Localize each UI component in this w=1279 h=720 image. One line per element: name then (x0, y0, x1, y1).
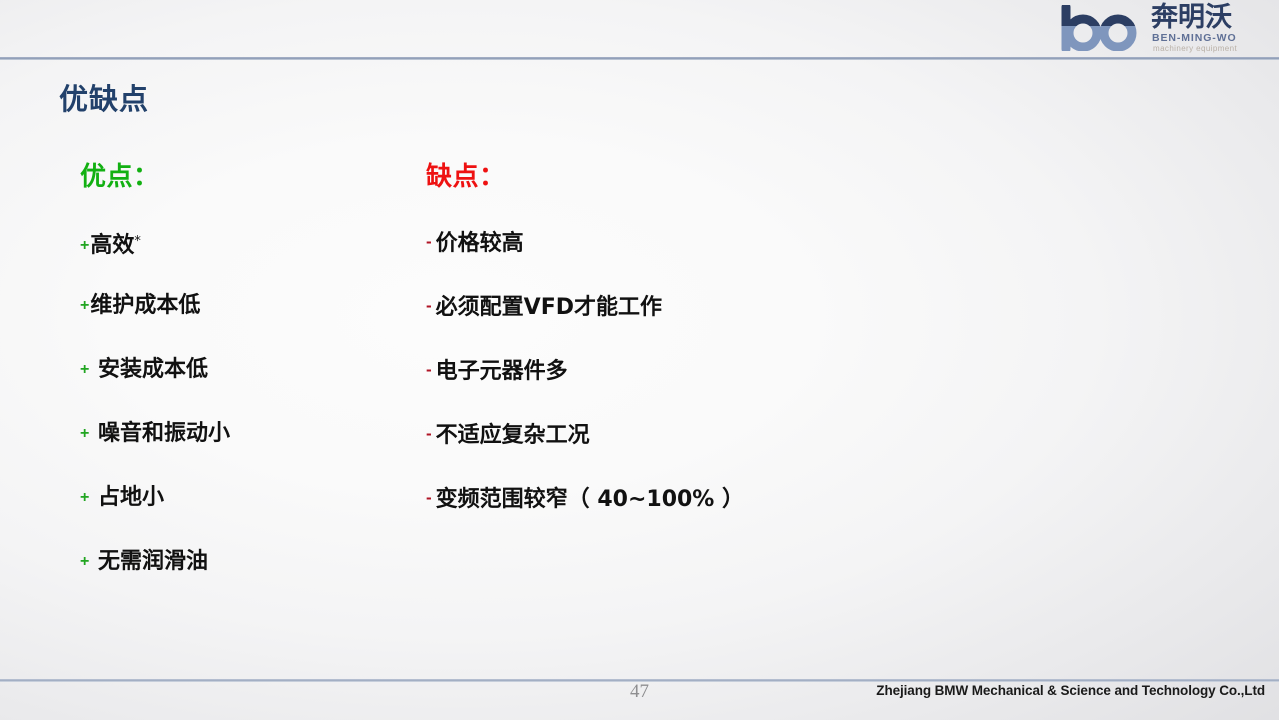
cons-list: -价格较高 -必须配置VFD才能工作 -电子元器件多 -不适应复杂工况 -变频范… (426, 228, 1026, 548)
plus-marker-icon: + (80, 292, 89, 320)
list-item-label: 无需润滑油 (90, 549, 208, 574)
list-item-label: 安装成本低 (90, 357, 208, 382)
list-item: +高效* (80, 228, 410, 292)
logo-tagline: machinery equipment (1153, 44, 1237, 53)
dash-marker-icon: - (426, 228, 432, 256)
list-item: +维护成本低 (80, 292, 410, 356)
pros-list: +高效* +维护成本低 + 安装成本低 + 噪音和振动小 + 占地小 + 无需润… (80, 228, 410, 612)
list-item-label: 变频范围较窄（ 40~100% ） (436, 487, 744, 512)
logo-wordmark: 奔明沃 BEN-MING-WO machinery equipment (1151, 4, 1271, 52)
content-columns: 优点： +高效* +维护成本低 + 安装成本低 + 噪音和振动小 + 占地小 (0, 160, 1279, 630)
list-item: -价格较高 (426, 228, 1026, 292)
list-item: -必须配置VFD才能工作 (426, 292, 1026, 356)
plus-marker-icon: + (80, 548, 89, 576)
list-item: + 占地小 (80, 484, 410, 548)
logo-chinese-name: 奔明沃 (1151, 3, 1232, 32)
plus-marker-icon: + (80, 484, 89, 512)
footer-company-name: Zhejiang BMW Mechanical & Science and Te… (876, 681, 1265, 701)
list-item-label: 电子元器件多 (436, 359, 568, 384)
plus-marker-icon: + (80, 356, 89, 384)
list-item-label: 占地小 (90, 485, 164, 510)
plus-marker-icon: + (80, 232, 89, 260)
footnote-asterisk: * (134, 234, 141, 249)
header-divider-line (0, 57, 1279, 60)
list-item: + 噪音和振动小 (80, 420, 410, 484)
page-title: 优缺点 (59, 80, 149, 118)
list-item: + 无需润滑油 (80, 548, 410, 612)
slide-canvas: 奔明沃 BEN-MING-WO machinery equipment 优缺点 … (0, 0, 1279, 720)
list-item-label: 高效 (90, 233, 134, 258)
dash-marker-icon: - (426, 356, 432, 384)
dash-marker-icon: - (426, 420, 432, 448)
dash-marker-icon: - (426, 484, 432, 512)
list-item-label: 噪音和振动小 (90, 421, 230, 446)
logo-english-name: BEN-MING-WO (1152, 33, 1237, 44)
pros-column: 优点： +高效* +维护成本低 + 安装成本低 + 噪音和振动小 + 占地小 (80, 160, 410, 612)
dash-marker-icon: - (426, 292, 432, 320)
pros-heading: 优点： (80, 160, 410, 194)
list-item-label: 价格较高 (436, 231, 524, 256)
plus-marker-icon: + (80, 420, 89, 448)
company-logo: 奔明沃 BEN-MING-WO machinery equipment (1053, 3, 1271, 53)
bo-monogram-icon (1056, 5, 1148, 51)
list-item: -变频范围较窄（ 40~100% ） (426, 484, 1026, 548)
cons-heading: 缺点： (426, 160, 1026, 194)
list-item-label: 维护成本低 (90, 293, 200, 318)
list-item: + 安装成本低 (80, 356, 410, 420)
list-item-label: 不适应复杂工况 (436, 423, 590, 448)
cons-column: 缺点： -价格较高 -必须配置VFD才能工作 -电子元器件多 -不适应复杂工况 … (426, 160, 1026, 548)
list-item-label: 必须配置VFD才能工作 (436, 295, 662, 320)
list-item: -不适应复杂工况 (426, 420, 1026, 484)
list-item: -电子元器件多 (426, 356, 1026, 420)
